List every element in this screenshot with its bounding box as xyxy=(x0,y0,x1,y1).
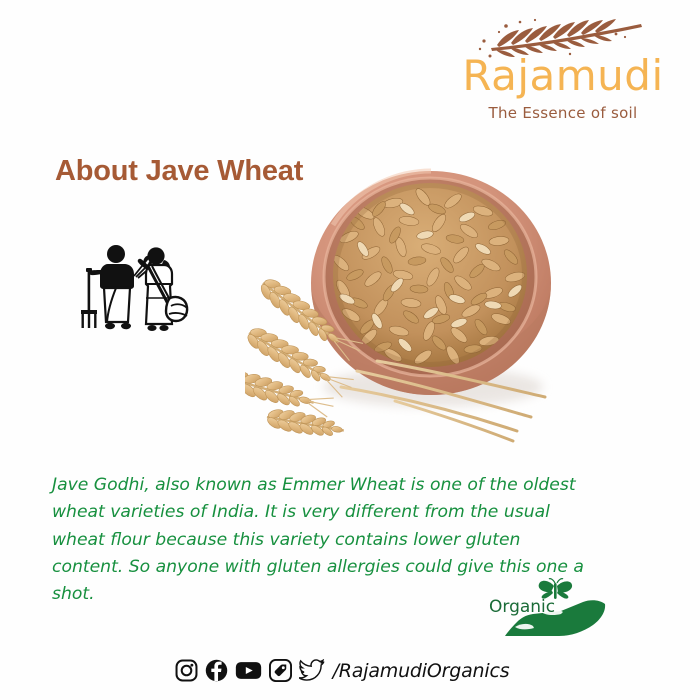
brand-tagline: The Essence of soil xyxy=(448,104,678,122)
twitter-icon[interactable] xyxy=(299,659,325,682)
brand-logo: Rajamudi The Essence of soil xyxy=(448,18,678,122)
facebook-icon[interactable] xyxy=(205,659,228,682)
two-farmers-icon xyxy=(72,236,190,336)
social-bar: /RajamudiOrganics xyxy=(0,659,700,682)
butterfly-icon xyxy=(539,579,572,599)
about-jave-wheat-poster: Rajamudi The Essence of soil About Jave … xyxy=(0,0,700,700)
youtube-icon[interactable] xyxy=(235,659,262,682)
social-handle: /RajamudiOrganics xyxy=(333,660,510,682)
koo-tag-icon[interactable] xyxy=(269,659,292,682)
brand-name: Rajamudi xyxy=(448,54,678,98)
organic-label: Organic xyxy=(489,597,555,617)
wheat-bowl-photo xyxy=(245,165,600,460)
organic-badge: Organic xyxy=(487,578,612,640)
instagram-icon[interactable] xyxy=(175,659,198,682)
